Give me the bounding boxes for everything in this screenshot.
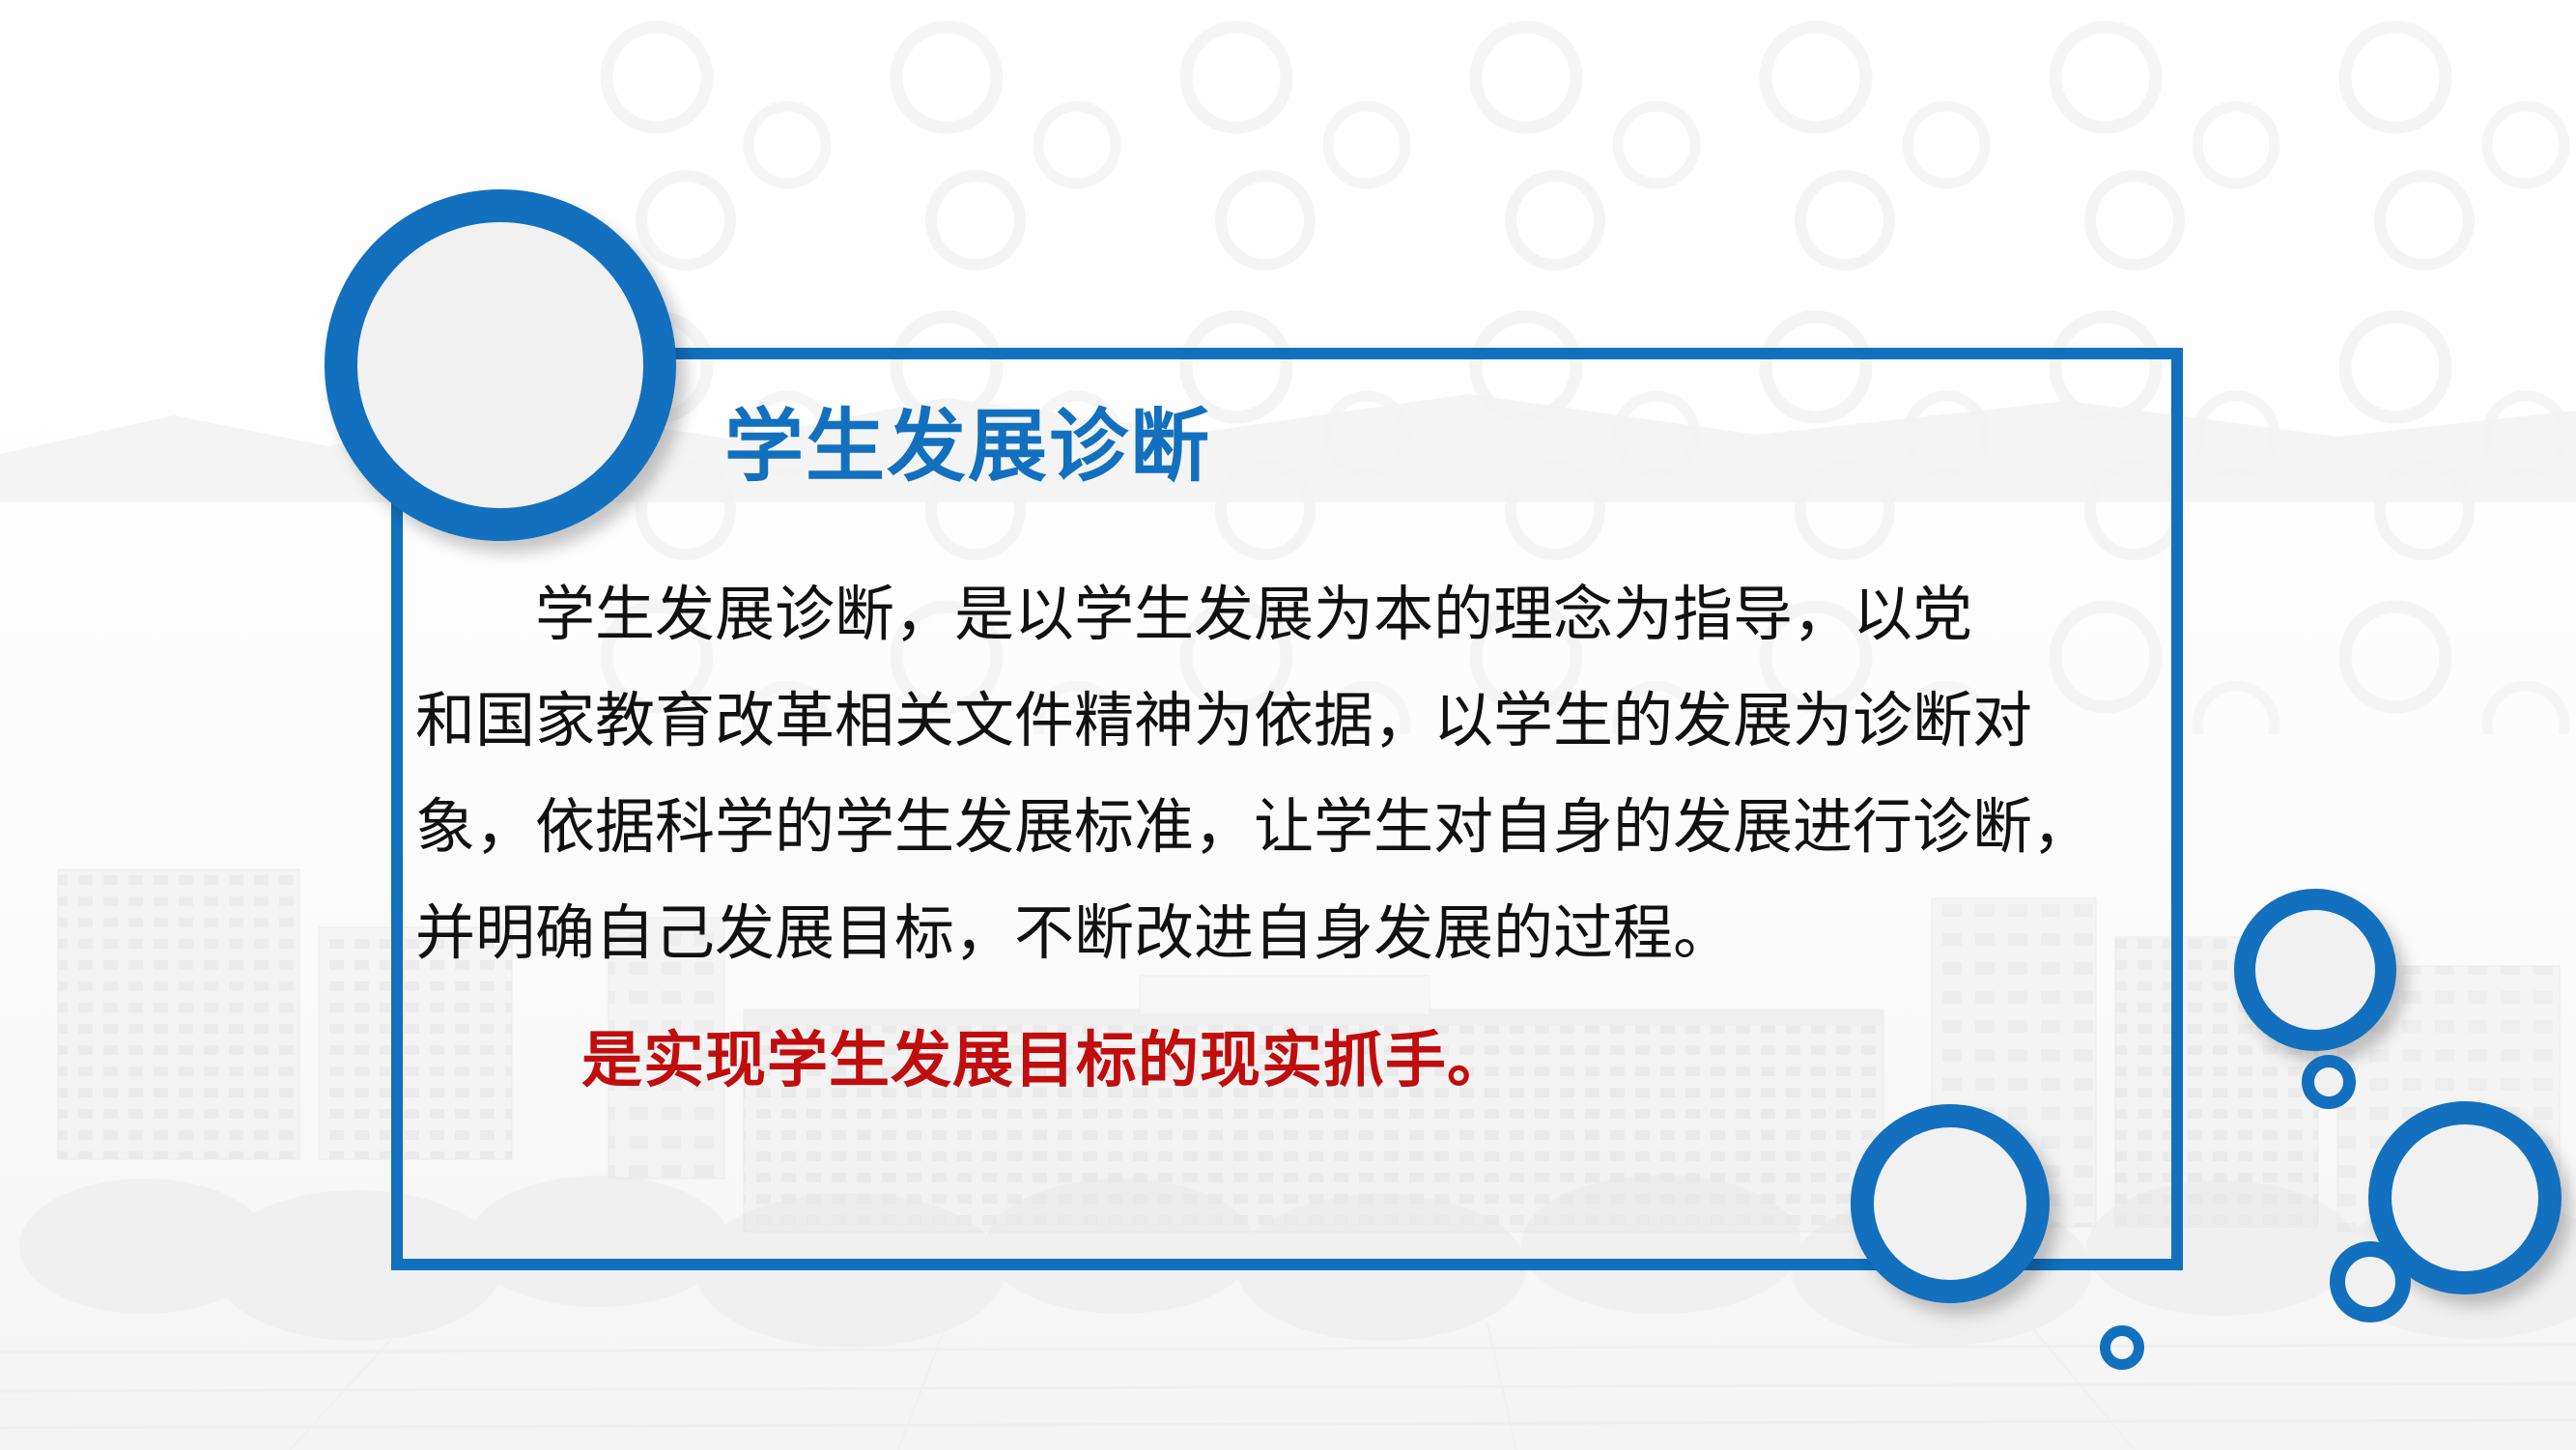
body-line: 和国家教育改革相关文件精神为依据，以学生的发展为诊断对 <box>415 668 2149 775</box>
slide-canvas: 学生发展诊断 学生发展诊断，是以学生发展为本的理念为指导，以党 和国家教育改革相… <box>0 0 2576 1450</box>
body-line: 学生发展诊断，是以学生发展为本的理念为指导，以党 <box>415 562 2149 668</box>
decorative-ring-right-small-icon <box>2302 1055 2356 1109</box>
body-line: 象，依据科学的学生发展标准，让学生对自身的发展进行诊断， <box>415 775 2149 881</box>
content-area: 学生发展诊断 学生发展诊断，是以学生发展为本的理念为指导，以党 和国家教育改革相… <box>391 348 2183 1270</box>
decorative-ring-right-tiny-bottom-icon <box>2330 1241 2411 1322</box>
decorative-ring-right-upper-icon <box>2234 889 2396 1051</box>
body-line: 并明确自己发展目标，不断改进自身发展的过程。 <box>415 881 2149 987</box>
body-paragraph: 学生发展诊断，是以学生发展为本的理念为指导，以党 和国家教育改革相关文件精神为依… <box>415 562 2149 1105</box>
page-title: 学生发展诊断 <box>724 408 1211 487</box>
decorative-ring-dot-bottom-icon <box>2100 1325 2144 1370</box>
highlight-statement: 是实现学生发展目标的现实抓手。 <box>415 1016 2149 1105</box>
